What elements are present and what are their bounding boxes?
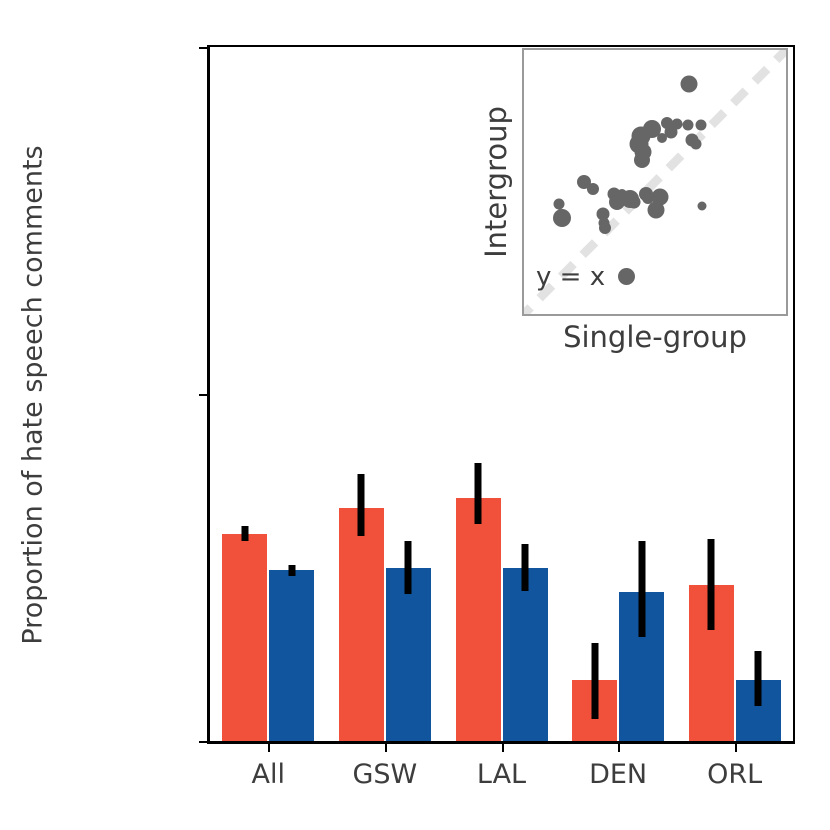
error-bar-orl-single-group	[708, 539, 715, 630]
inset-y-axis-label: Intergroup	[476, 48, 516, 316]
figure: Proportion of hate speech comments AllGS…	[0, 0, 830, 830]
bar-gsw-intergroup	[386, 568, 431, 742]
y-tick-mark	[199, 47, 210, 49]
scatter-point	[634, 152, 650, 168]
inset-x-axis-label: Single-group	[522, 320, 788, 354]
scatter-point	[628, 195, 641, 208]
legend-dot-icon	[618, 268, 635, 285]
x-tick-mark	[735, 741, 737, 752]
bar-gsw-single-group	[339, 508, 384, 741]
x-tick-mark	[268, 741, 270, 752]
y-tick-mark	[199, 741, 210, 743]
error-bar-den-single-group	[591, 643, 598, 720]
scatter-point	[648, 201, 665, 218]
bar-lal-single-group	[456, 498, 501, 741]
x-tick-mark	[618, 741, 620, 752]
error-bar-lal-single-group	[475, 463, 482, 524]
error-bar-gsw-single-group	[358, 474, 365, 536]
error-bar-all-single-group	[241, 526, 248, 542]
bar-all-single-group	[222, 534, 267, 741]
error-bar-gsw-intergroup	[405, 541, 412, 593]
bar-lal-intergroup	[503, 568, 548, 742]
scatter-point	[682, 120, 693, 131]
scatter-point	[681, 76, 698, 93]
x-tick-label-orl: ORL	[655, 759, 815, 790]
error-bar-den-intergroup	[638, 541, 645, 636]
y-axis-label: Proportion of hate speech comments	[16, 45, 50, 744]
inset-scatter-plot: y = x	[522, 48, 788, 316]
scatter-point	[690, 138, 701, 149]
scatter-point	[695, 120, 706, 131]
x-tick-mark	[502, 741, 504, 752]
error-bar-orl-intergroup	[755, 651, 762, 706]
bar-all-intergroup	[269, 570, 314, 741]
y-tick-mark	[199, 394, 210, 396]
inset-equation-text: y = x	[536, 262, 605, 292]
scatter-point	[553, 209, 571, 227]
error-bar-all-intergroup	[288, 565, 295, 577]
scatter-point	[698, 201, 707, 210]
x-tick-mark	[385, 741, 387, 752]
scatter-point	[587, 183, 599, 195]
inset-equation-annotation: y = x	[536, 262, 635, 292]
inset-y-axis-label-text: Intergroup	[479, 106, 513, 258]
y-axis-label-text: Proportion of hate speech comments	[18, 145, 49, 644]
scatter-point	[599, 222, 611, 234]
error-bar-lal-intergroup	[522, 544, 529, 590]
scatter-point	[664, 125, 677, 138]
